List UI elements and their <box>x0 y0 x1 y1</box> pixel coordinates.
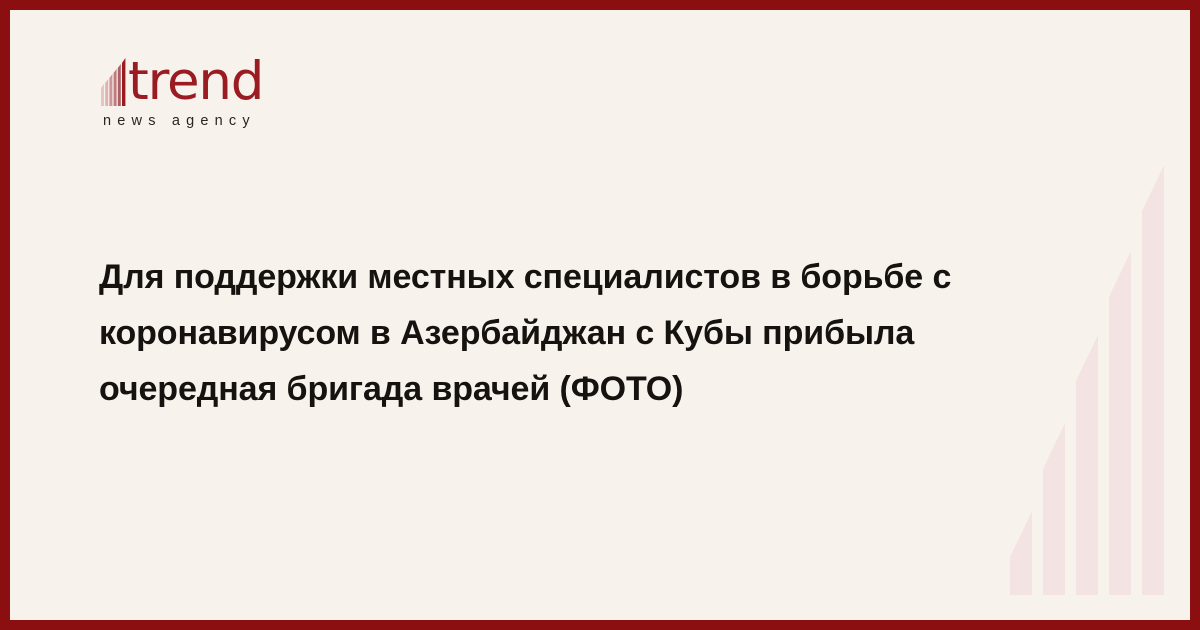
trend-bars-logo-mark <box>99 58 129 106</box>
headline-line-1: Для поддержки местных специалистов в бор… <box>99 249 1059 305</box>
logo-tagline: news agency <box>103 113 399 129</box>
headline-line-3: очередная бригада врачей (ФОТО) <box>99 361 1059 417</box>
headline-line-2: коронавирусом в Азербайджан с Кубы прибы… <box>99 305 1059 361</box>
logo-top-row: trend <box>99 52 399 106</box>
social-share-card: trend news agency Для поддержки местных … <box>0 0 1200 630</box>
card-canvas: trend news agency Для поддержки местных … <box>10 10 1190 620</box>
logo-wordmark: trend <box>128 58 263 106</box>
headline: Для поддержки местных специалистов в бор… <box>99 249 1059 417</box>
trend-logo[interactable]: trend news agency <box>99 52 399 129</box>
